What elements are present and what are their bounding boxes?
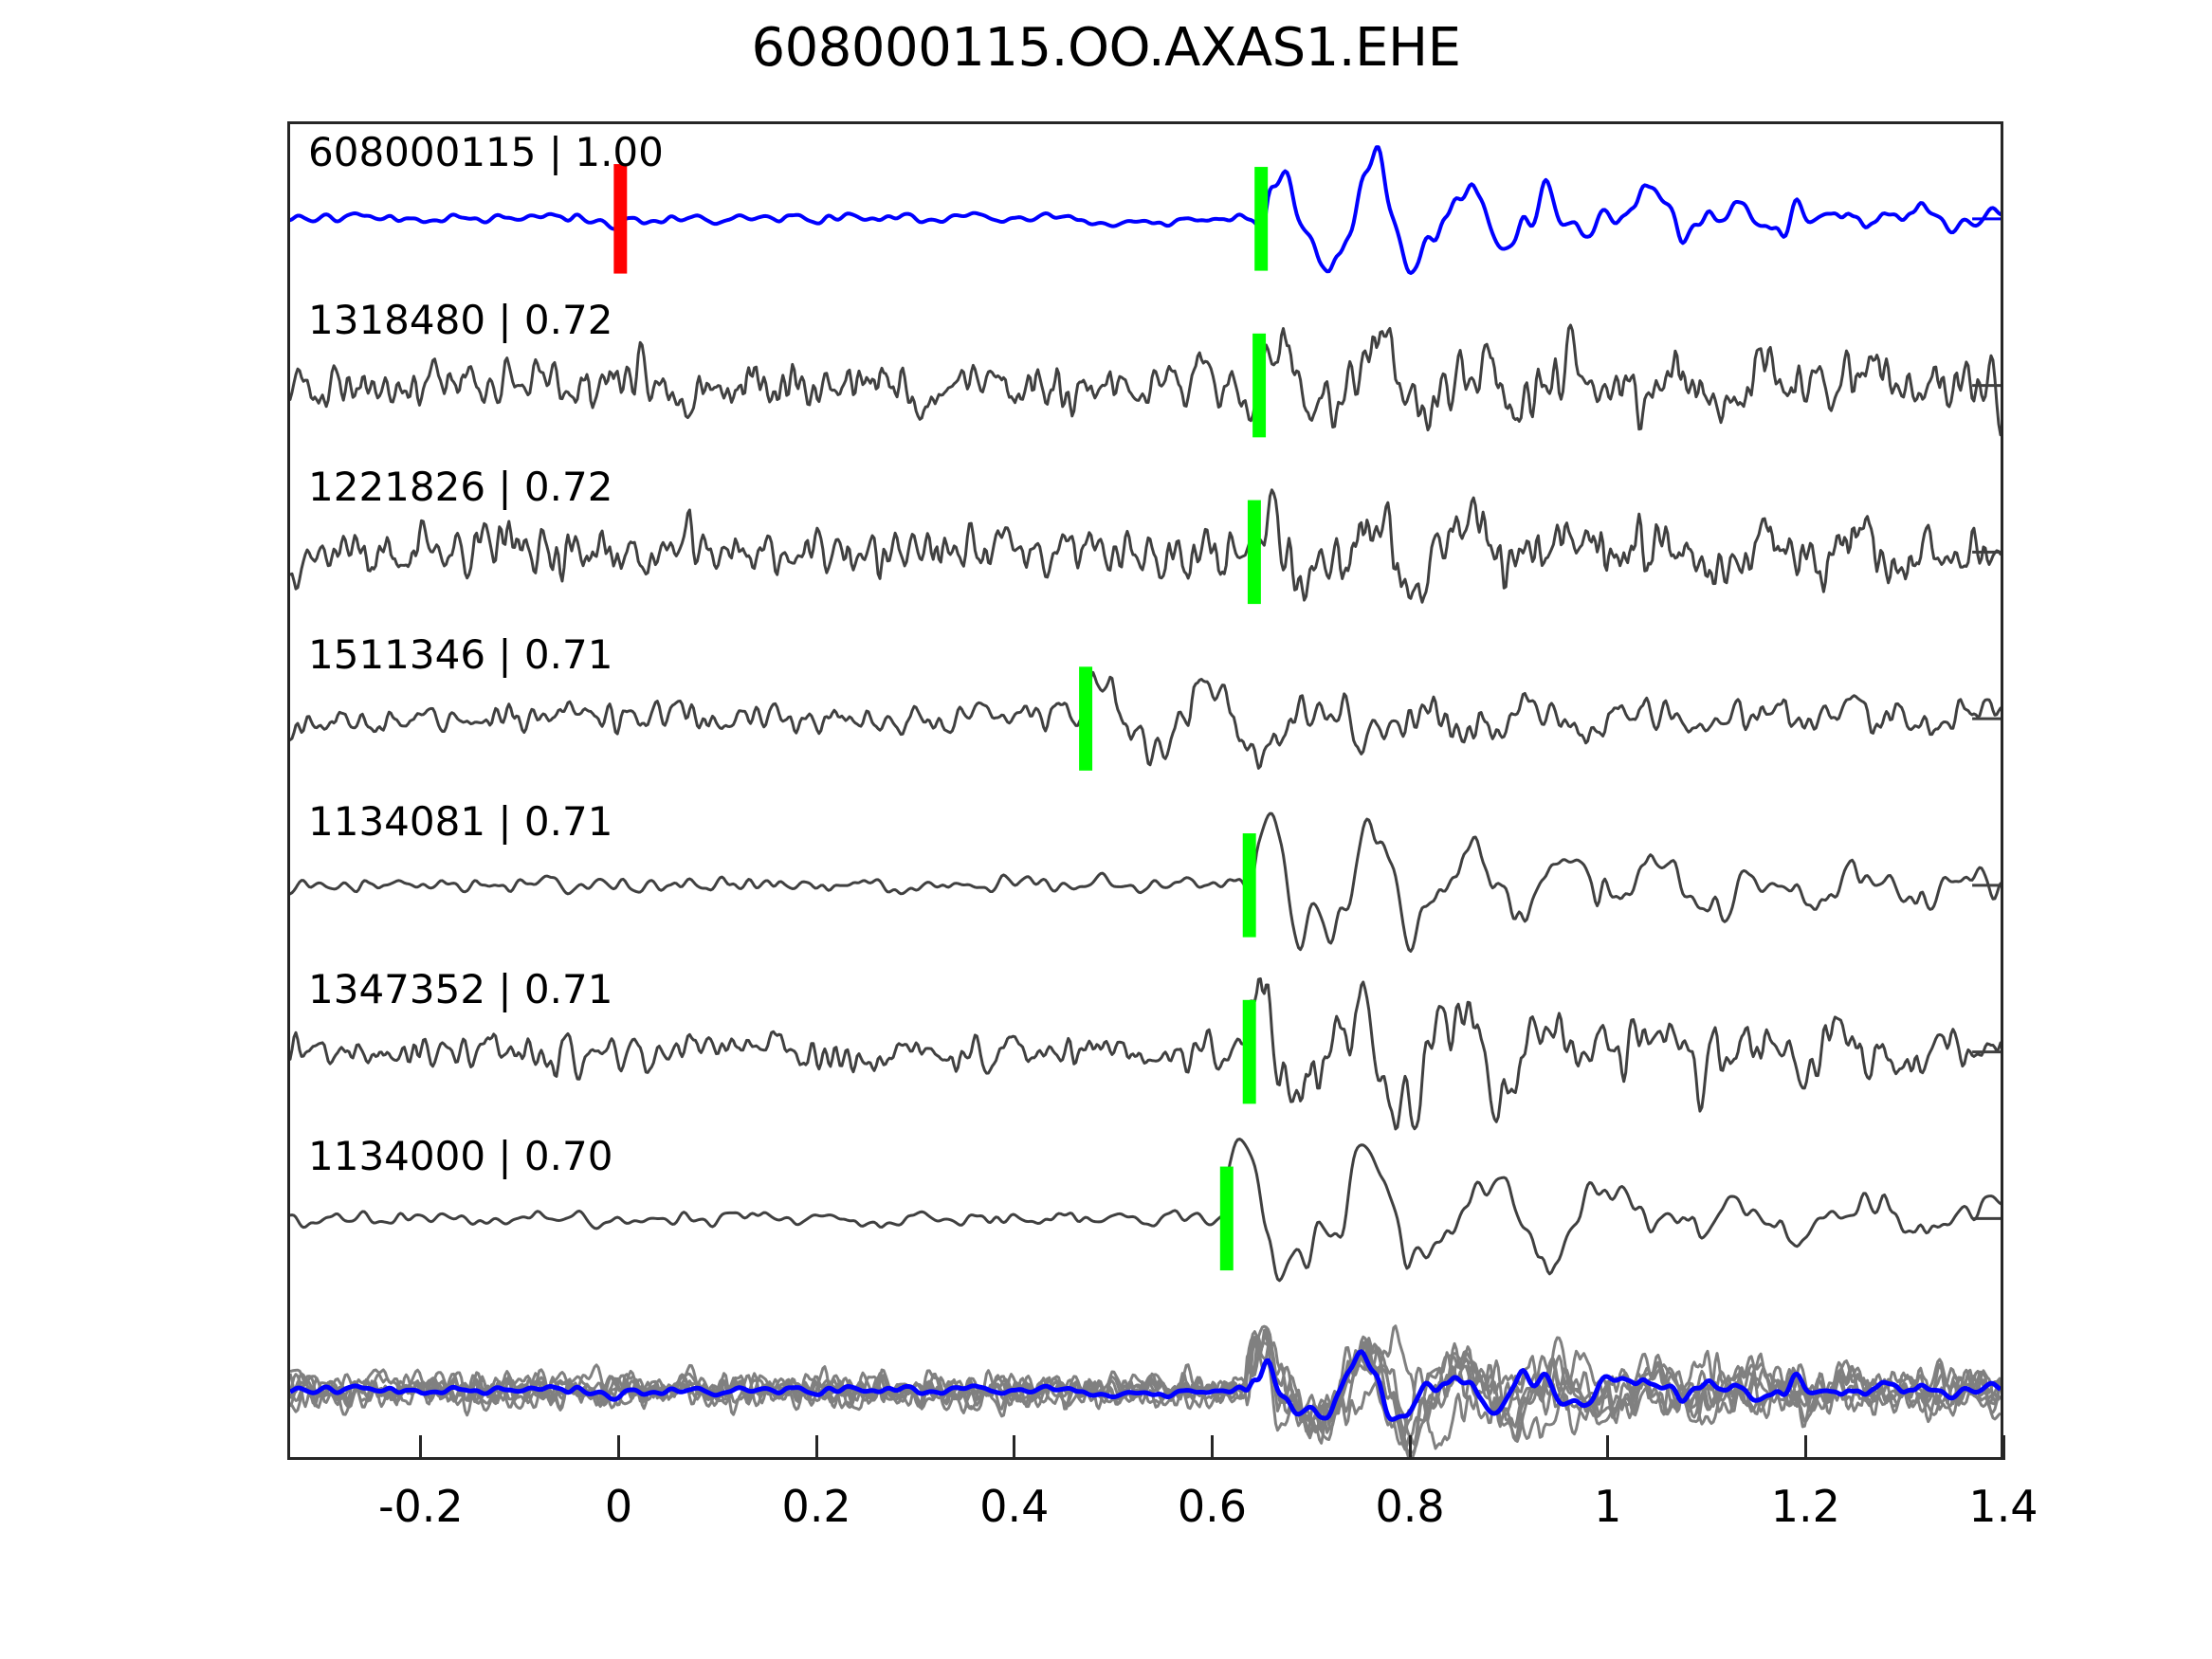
phase-pick-marker <box>1252 334 1266 438</box>
waveform-trace <box>290 1139 2001 1281</box>
x-axis-tick-label: 0.4 <box>979 1481 1049 1532</box>
plot-axes-frame <box>287 121 2003 1460</box>
x-axis-tick-mark <box>419 1435 422 1460</box>
x-axis-tick-mark <box>1013 1435 1015 1460</box>
x-axis-tick-mark <box>2002 1435 2005 1460</box>
x-axis-tick-label: 0.8 <box>1375 1481 1444 1532</box>
x-axis-tick-label: 1 <box>1594 1481 1621 1532</box>
waveform-trace <box>290 490 2001 602</box>
page-title: 608000115.OO.AXAS1.EHE <box>0 17 2212 79</box>
x-axis-tick-mark <box>1409 1435 1412 1460</box>
seismic-waveform-figure: 608000115.OO.AXAS1.EHE 608000115 | 1.001… <box>0 0 2212 1659</box>
x-axis-tick-mark <box>815 1435 818 1460</box>
x-axis-tick-mark <box>1606 1435 1609 1460</box>
x-axis-tick-mark <box>1211 1435 1214 1460</box>
x-axis-tick-mark <box>1804 1435 1807 1460</box>
waveform-trace <box>290 672 2001 768</box>
phase-pick-marker <box>1079 666 1092 771</box>
phase-pick-marker <box>1243 833 1256 938</box>
waveform-trace <box>290 979 2001 1129</box>
phase-pick-marker <box>1220 1167 1234 1271</box>
x-axis-tick-label: 1.2 <box>1771 1481 1840 1532</box>
x-axis-tick-label: 0 <box>605 1481 632 1532</box>
phase-pick-marker <box>1243 1000 1256 1104</box>
waveform-canvas <box>290 124 2001 1457</box>
x-axis-tick-label: 1.4 <box>1968 1481 2038 1532</box>
waveform-trace <box>290 147 2001 273</box>
x-axis-tick-label: -0.2 <box>378 1481 464 1532</box>
phase-pick-marker <box>1254 167 1268 271</box>
waveform-trace <box>290 325 2001 435</box>
x-axis-tick-label: 0.6 <box>1178 1481 1247 1532</box>
traces-group <box>290 147 2001 1457</box>
origin-pick-marker <box>613 164 627 274</box>
phase-pick-marker <box>1248 501 1261 605</box>
waveform-trace <box>290 813 2001 951</box>
x-axis-tick-label: 0.2 <box>782 1481 851 1532</box>
x-axis-tick-mark <box>617 1435 620 1460</box>
